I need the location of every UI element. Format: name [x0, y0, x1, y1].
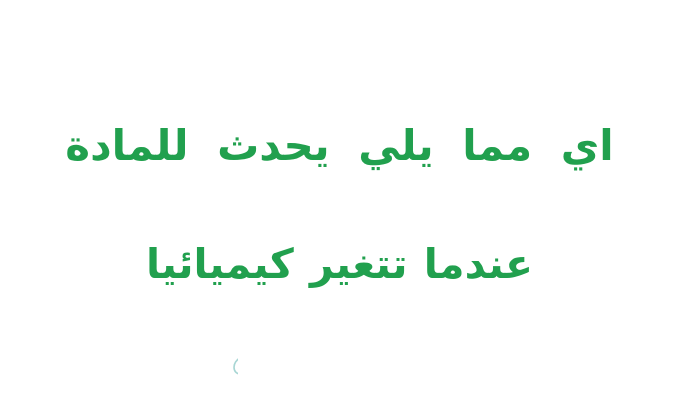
question-text-block: اي مما يلي يحدث للمادة عندما تتغير كيميا… — [0, 0, 679, 405]
question-line-2: عندما تتغير كيميائيا — [0, 244, 679, 285]
question-line-1: اي مما يلي يحدث للمادة — [0, 125, 679, 167]
image-canvas: اي مما يلي يحدث للمادة عندما تتغير كيميا… — [0, 0, 679, 405]
